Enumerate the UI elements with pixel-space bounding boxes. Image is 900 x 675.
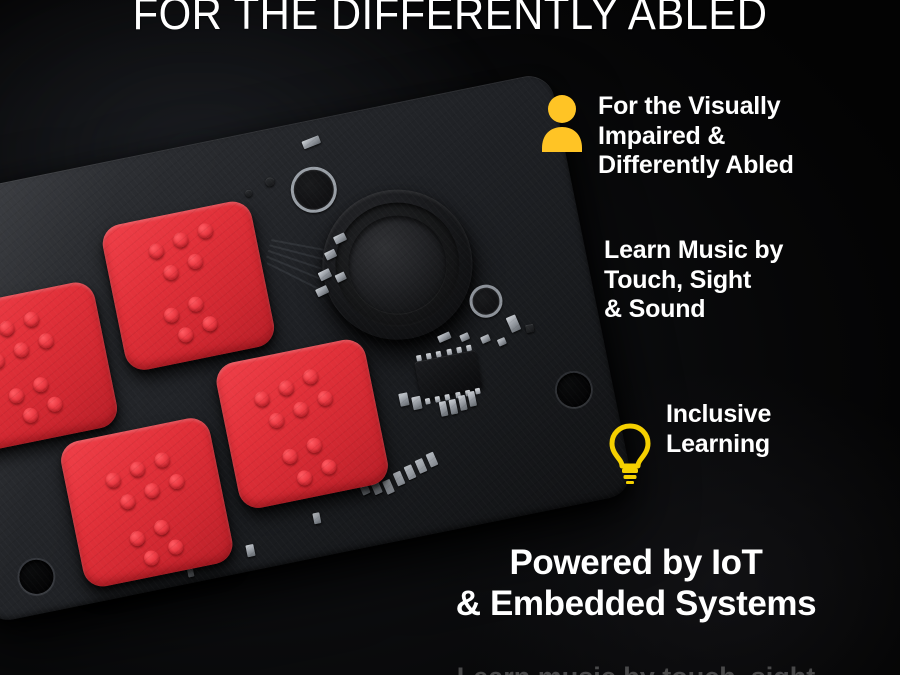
smd-component xyxy=(458,395,468,411)
test-point-ring xyxy=(467,282,506,321)
smd-component xyxy=(497,337,507,347)
smd-component xyxy=(506,314,522,333)
smd-component xyxy=(459,332,470,342)
edge-pad xyxy=(426,452,439,468)
feature-label: Inclusive Learning xyxy=(666,400,771,459)
smd-component xyxy=(480,334,491,344)
braille-pad[interactable] xyxy=(99,198,277,373)
page-title: FOR THE DIFFERENTLY ABLED xyxy=(32,0,869,40)
lightbulb-icon xyxy=(608,422,652,484)
smd-component xyxy=(245,189,253,197)
braille-pad[interactable] xyxy=(58,415,236,590)
smd-component xyxy=(525,324,534,333)
poster-canvas: FOR THE DIFFERENTLY ABLED xyxy=(0,0,900,675)
smd-component xyxy=(187,568,194,577)
edge-pad xyxy=(415,458,428,474)
bottom-cropped-caption: Learn music by touch, sight xyxy=(380,662,892,675)
ic-chip-pins xyxy=(413,344,475,362)
smd-component xyxy=(312,512,321,524)
feature-label: Learn Music by Touch, Sight & Sound xyxy=(604,236,783,325)
test-point-ring xyxy=(287,163,341,217)
edge-pad xyxy=(393,471,406,487)
mounting-hole xyxy=(554,370,594,410)
feature-visually-impaired: For the Visually Impaired & Differently … xyxy=(540,92,794,181)
smd-component xyxy=(301,135,321,149)
smd-component xyxy=(245,544,255,557)
edge-pad xyxy=(382,479,395,495)
speaker xyxy=(309,176,486,353)
braille-pad[interactable] xyxy=(213,336,391,511)
smd-component xyxy=(437,331,452,343)
edge-pad xyxy=(404,464,417,480)
bottom-headline: Powered by IoT & Embedded Systems xyxy=(380,542,892,625)
smd-component xyxy=(439,401,449,417)
feature-inclusive-learning: Inclusive Learning xyxy=(608,400,771,484)
smd-component xyxy=(448,399,458,415)
feature-learn-music: Learn Music by Touch, Sight & Sound xyxy=(604,236,783,325)
mounting-hole xyxy=(16,557,56,597)
braille-pad[interactable] xyxy=(0,279,121,454)
smd-component xyxy=(265,177,276,188)
feature-label: For the Visually Impaired & Differently … xyxy=(598,92,794,181)
pcb-trace xyxy=(271,239,330,252)
smd-component xyxy=(398,392,409,407)
person-icon xyxy=(540,94,584,152)
